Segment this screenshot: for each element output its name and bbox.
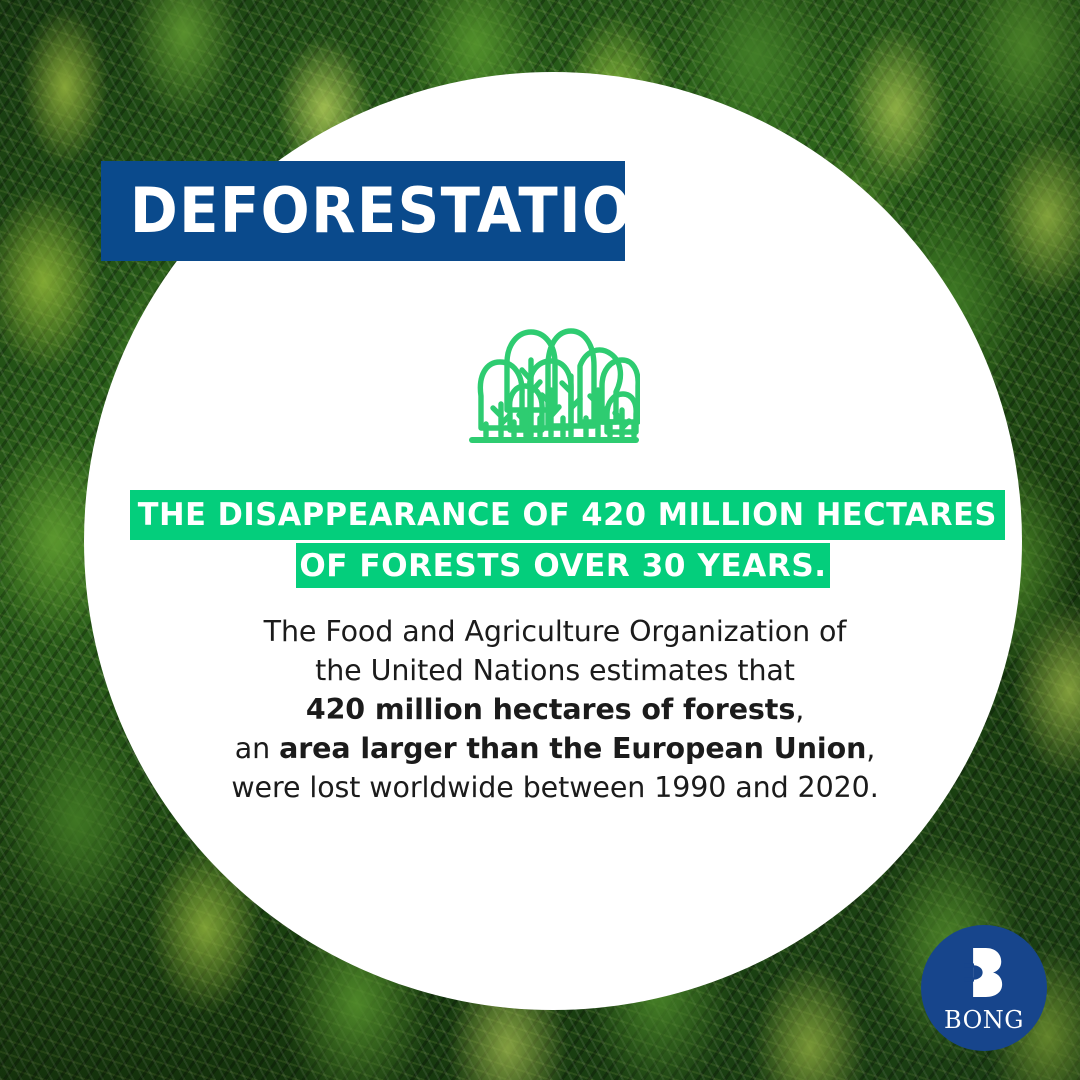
body-line-4: an area larger than the European Union, (170, 729, 940, 768)
body-line-4-bold: area larger than the European Union (279, 732, 866, 765)
body-paragraph: The Food and Agriculture Organization of… (170, 612, 940, 807)
highlight-bar-line-2: OF FORESTS OVER 30 YEARS. (296, 543, 830, 588)
page-title: DEFORESTATION (101, 180, 682, 242)
body-line-3-bold: 420 million hectares of forests (306, 693, 795, 726)
bong-logo[interactable]: BONG (921, 925, 1047, 1051)
highlight-bar-line-1: THE DISAPPEARANCE OF 420 MILLION HECTARE… (130, 490, 1005, 540)
title-banner: DEFORESTATION (101, 161, 625, 261)
body-line-4-tail: , (866, 732, 875, 765)
body-line-5: were lost worldwide between 1990 and 202… (170, 768, 940, 807)
forest-trees-icon (468, 318, 640, 450)
body-line-2: the United Nations estimates that (170, 651, 940, 690)
highlight-text-2: OF FORESTS OVER 30 YEARS. (299, 548, 826, 584)
infographic-poster: DEFORESTATION (0, 0, 1080, 1080)
body-line-4-lead: an (235, 732, 279, 765)
body-line-1: The Food and Agriculture Organization of (170, 612, 940, 651)
bong-b-monogram-icon (964, 948, 1004, 1001)
highlight-text-1: THE DISAPPEARANCE OF 420 MILLION HECTARE… (138, 497, 997, 533)
body-line-3: 420 million hectares of forests, (170, 690, 940, 729)
body-line-3-tail: , (795, 693, 804, 726)
bong-wordmark: BONG (944, 1008, 1024, 1032)
